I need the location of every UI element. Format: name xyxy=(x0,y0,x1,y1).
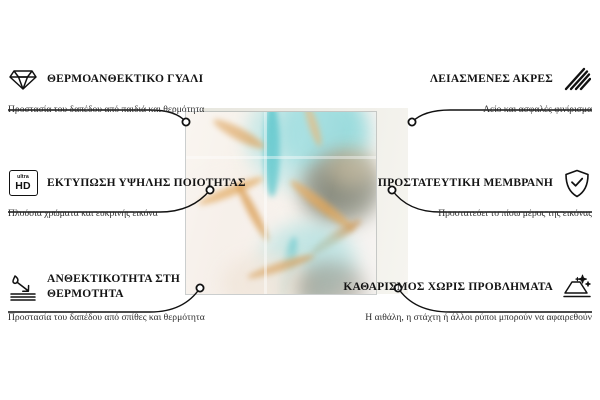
feature-heat-resistant-glass: ΘΕΡΜΟΑΝΘΕΚΤΙΚΟ ΓΥΑΛΙ Προστασία του δαπέδ… xyxy=(8,62,258,117)
feature-heat-resistance: ΑΝΘΕΚΤΙΚΟΤΗΤΑ ΣΤΗ ΘΕΡΜΟΤΗΤΑ Προστασία το… xyxy=(8,270,258,325)
ultra-hd-icon-hd-text: HD xyxy=(15,181,31,192)
connector-dot-polished-edges xyxy=(408,118,415,125)
feature-heading: ΚΑΘΑΡΙΣΜΟΣ ΧΩΡΙΣ ΠΡΟΒΛΗΜΑΤΑ xyxy=(342,270,592,304)
feature-description: Η αιθάλη, η στάχτη ή άλλοι ρύποι μπορούν… xyxy=(342,311,592,325)
feature-high-quality-print: ultra HD ΕΚΤΥΠΩΣΗ ΥΨΗΛΗΣ ΠΟΙΟΤΗΤΑΣ Πλούσ… xyxy=(8,166,258,221)
feature-heading: ΠΡΟΣΤΑΤΕΥΤΙΚΗ ΜΕΜΒΡΑΝΗ xyxy=(342,166,592,200)
feature-heading: ΛΕΙΑΣΜΕΝΕΣ ΑΚΡΕΣ xyxy=(342,62,592,96)
feature-title: ΘΕΡΜΟΑΝΘΕΚΤΙΚΟ ΓΥΑΛΙ xyxy=(47,72,203,87)
feature-protective-membrane: ΠΡΟΣΤΑΤΕΥΤΙΚΗ ΜΕΜΒΡΑΝΗ Προστατεύει το πί… xyxy=(342,166,592,221)
feature-description: Προστασία του δαπέδου από σπίθες και θερ… xyxy=(8,311,258,325)
feature-description: Λείο και ασφαλές φινίρισμα xyxy=(342,103,592,117)
feature-heading: ΑΝΘΕΚΤΙΚΟΤΗΤΑ ΣΤΗ ΘΕΡΜΟΤΗΤΑ xyxy=(8,270,258,304)
shield-check-icon xyxy=(562,168,592,198)
feature-polished-edges: ΛΕΙΑΣΜΕΝΕΣ ΑΚΡΕΣ Λείο και ασφαλές φινίρι… xyxy=(342,62,592,117)
diamond-icon xyxy=(8,64,38,94)
feature-title: ΛΕΙΑΣΜΕΝΕΣ ΑΚΡΕΣ xyxy=(430,72,553,87)
feature-title: ΑΝΘΕΚΤΙΚΟΤΗΤΑ ΣΤΗ ΘΕΡΜΟΤΗΤΑ xyxy=(47,272,258,301)
feature-easy-cleaning: ΚΑΘΑΡΙΣΜΟΣ ΧΩΡΙΣ ΠΡΟΒΛΗΜΑΤΑ Η αιθάλη, η … xyxy=(342,270,592,325)
feature-heading: ultra HD ΕΚΤΥΠΩΣΗ ΥΨΗΛΗΣ ΠΟΙΟΤΗΤΑΣ xyxy=(8,166,258,200)
flame-deflect-icon xyxy=(8,272,38,302)
feature-title: ΕΚΤΥΠΩΣΗ ΥΨΗΛΗΣ ΠΟΙΟΤΗΤΑΣ xyxy=(47,176,246,191)
ultra-hd-icon: ultra HD xyxy=(8,168,38,198)
infographic-canvas: ΘΕΡΜΟΑΝΘΕΚΤΙΚΟ ΓΥΑΛΙ Προστασία του δαπέδ… xyxy=(0,0,600,400)
feature-description: Προστατεύει το πίσω μέρος της εικόνας xyxy=(342,207,592,221)
feature-title: ΚΑΘΑΡΙΣΜΟΣ ΧΩΡΙΣ ΠΡΟΒΛΗΜΑΤΑ xyxy=(343,280,553,295)
feature-heading: ΘΕΡΜΟΑΝΘΕΚΤΙΚΟ ΓΥΑΛΙ xyxy=(8,62,258,96)
hatched-wedge-icon xyxy=(562,64,592,94)
feature-description: Προστασία του δαπέδου από παιδιά και θερ… xyxy=(8,103,258,117)
feature-description: Πλούσια χρώματα και ευκρινής εικόνα xyxy=(8,207,258,221)
sparkle-wipe-icon xyxy=(562,272,592,302)
feature-title: ΠΡΟΣΤΑΤΕΥΤΙΚΗ ΜΕΜΒΡΑΝΗ xyxy=(378,176,553,191)
